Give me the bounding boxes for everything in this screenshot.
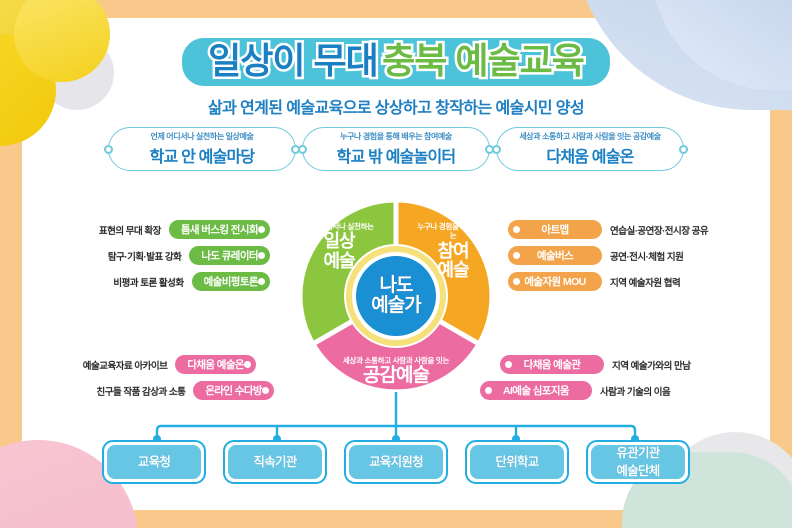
bottom-left-item-pill[interactable]: 다채움 예술온 <box>175 355 256 374</box>
donut-diagram: 언제 어디서나 실천하는 일상 예술 누구나 경험을 통해 배우는 참여 예술 … <box>296 196 496 396</box>
pill-dot-icon <box>258 252 265 259</box>
capsule-dachaeum[interactable]: 세상과 소통하고 사람과 사람을 잇는 공감예술 다채움 예술온 <box>496 127 684 171</box>
donut-center-line2: 예술가 <box>371 296 420 316</box>
org-box-related-agency[interactable]: 유관기관 예술단체 <box>586 440 690 484</box>
pill-dot-icon <box>505 361 512 368</box>
pill-dot-icon <box>513 278 520 285</box>
right-item-pill[interactable]: 예술버스 <box>508 246 602 265</box>
left-item-pill[interactable]: 나도 큐레이터 <box>189 246 270 265</box>
org-box-label-line1: 유관기관 <box>616 446 659 460</box>
org-box-label-line1: 교육지원청 <box>369 455 423 469</box>
right-item-mou: 예술자원 MOU 지역 예술자원 협력 <box>508 272 680 291</box>
left-item-busking: 표현의 무대 확장 틈새 버스킹 전시회 <box>99 220 270 239</box>
bottom-right-item-pill-label: 다채움 예술관 <box>524 357 581 372</box>
title-pill: 일상이 무대 충북 예술교육 <box>182 38 610 86</box>
org-box-education-office[interactable]: 교육청 <box>102 440 206 484</box>
bottom-left-item-description: 예술교육자료 아카이브 <box>83 358 168 372</box>
right-item-pill[interactable]: 아트맵 <box>508 220 602 239</box>
bottom-right-item-description: 지역 예술가와의 만남 <box>612 358 690 372</box>
right-item-artbus: 예술버스 공연·전시·체험 지원 <box>508 246 683 265</box>
header: 일상이 무대 충북 예술교육 삶과 연계된 예술교육으로 상상하고 창작하는 예… <box>0 38 792 118</box>
capsule-subtitle: 언제 어디서나 실천하는 일상예술 <box>151 131 254 142</box>
org-box-direct-agency[interactable]: 직속기관 <box>223 440 327 484</box>
pill-dot-icon <box>244 361 251 368</box>
left-item-critique: 비평과 토론 활성화 예술비평토론 <box>113 272 270 291</box>
left-item-pill[interactable]: 예술비평토론 <box>192 272 270 291</box>
org-box-inner: 유관기관 예술단체 <box>591 445 685 479</box>
org-box-label-line2: 예술단체 <box>616 464 659 478</box>
org-box-inner: 교육지원청 <box>349 445 443 479</box>
left-item-pill-label: 틈새 버스킹 전시회 <box>181 222 258 237</box>
bottom-right-item-pill[interactable]: 다채움 예술관 <box>500 355 604 374</box>
capsule-subtitle: 세상과 소통하고 사람과 사람을 잇는 공감예술 <box>519 131 660 142</box>
capsule-school-outside[interactable]: 누구나 경험을 통해 배우는 참여예술 학교 밖 예술놀이터 <box>302 127 490 171</box>
org-box-label-line1: 단위학교 <box>495 455 538 469</box>
right-item-pill-label: 예술버스 <box>537 248 573 263</box>
left-item-pill-label: 나도 큐레이터 <box>201 248 258 263</box>
right-item-description: 연습실·공연장·전시장 공유 <box>610 223 708 237</box>
bottom-left-item-pill-label: 다채움 예술온 <box>187 357 244 372</box>
capsule-knob-left-icon <box>104 145 113 154</box>
left-item-pill[interactable]: 틈새 버스킹 전시회 <box>169 220 270 239</box>
org-box-row: 교육청 직속기관 교육지원청 단위학교 <box>0 440 792 484</box>
left-item-description: 비평과 토론 활성화 <box>113 275 183 289</box>
capsule-knob-left-icon <box>298 145 307 154</box>
capsule-school-inside[interactable]: 언제 어디서나 실천하는 일상예술 학교 안 예술마당 <box>108 127 296 171</box>
frame-top-band <box>0 0 792 18</box>
pill-dot-icon <box>513 252 520 259</box>
org-box-label-line1: 교육청 <box>138 455 170 469</box>
page-title-part1: 일상이 무대 <box>208 40 378 81</box>
donut-center-badge: 나도 예술가 <box>352 252 440 340</box>
right-item-description: 지역 예술자원 협력 <box>610 275 680 289</box>
page-title-part2: 충북 예술교육 <box>382 40 584 81</box>
donut-center-line1: 나도 <box>380 276 413 296</box>
org-box-support-office[interactable]: 교육지원청 <box>344 440 448 484</box>
top-capsule-row: 언제 어디서나 실천하는 일상예술 학교 안 예술마당 누구나 경험을 통해 배… <box>0 127 792 171</box>
left-item-description: 탐구·기획·발표 강화 <box>108 249 181 263</box>
capsule-title: 학교 안 예술마당 <box>150 143 255 167</box>
org-box-inner: 단위학교 <box>470 445 564 479</box>
left-item-description: 표현의 무대 확장 <box>99 223 161 237</box>
pill-dot-icon <box>258 278 265 285</box>
right-item-pill-label: 아트맵 <box>541 222 568 237</box>
org-box-inner: 직속기관 <box>228 445 322 479</box>
infographic-canvas: 일상이 무대 충북 예술교육 삶과 연계된 예술교육으로 상상하고 창작하는 예… <box>0 0 792 528</box>
org-box-label-line1: 직속기관 <box>253 455 296 469</box>
org-box-unit-school[interactable]: 단위학교 <box>465 440 569 484</box>
frame-bottom-band <box>0 510 792 528</box>
capsule-title: 다채움 예술온 <box>546 143 633 167</box>
right-item-artmap: 아트맵 연습실·공연장·전시장 공유 <box>508 220 708 239</box>
org-connector-lines <box>0 392 792 444</box>
capsule-knob-left-icon <box>492 145 501 154</box>
left-item-pill-label: 예술비평토론 <box>204 274 258 289</box>
right-item-pill-label: 예술자원 MOU <box>524 274 585 289</box>
capsule-subtitle: 누구나 경험을 통해 배우는 참여예술 <box>340 131 452 142</box>
capsule-title: 학교 밖 예술놀이터 <box>337 143 456 167</box>
bottom-left-item-archive: 예술교육자료 아카이브 다채움 예술온 <box>83 355 256 374</box>
page-subtitle: 삶과 연계된 예술교육으로 상상하고 창작하는 예술시민 양성 <box>0 94 792 118</box>
org-box-inner: 교육청 <box>107 445 201 479</box>
left-item-curator: 탐구·기획·발표 강화 나도 큐레이터 <box>108 246 270 265</box>
capsule-knob-right-icon <box>679 145 688 154</box>
right-item-description: 공연·전시·체험 지원 <box>610 249 683 263</box>
right-item-pill[interactable]: 예술자원 MOU <box>508 272 602 291</box>
pill-dot-icon <box>258 226 265 233</box>
bottom-right-item-gallery: 다채움 예술관 지역 예술가와의 만남 <box>500 355 690 374</box>
pill-dot-icon <box>513 226 520 233</box>
